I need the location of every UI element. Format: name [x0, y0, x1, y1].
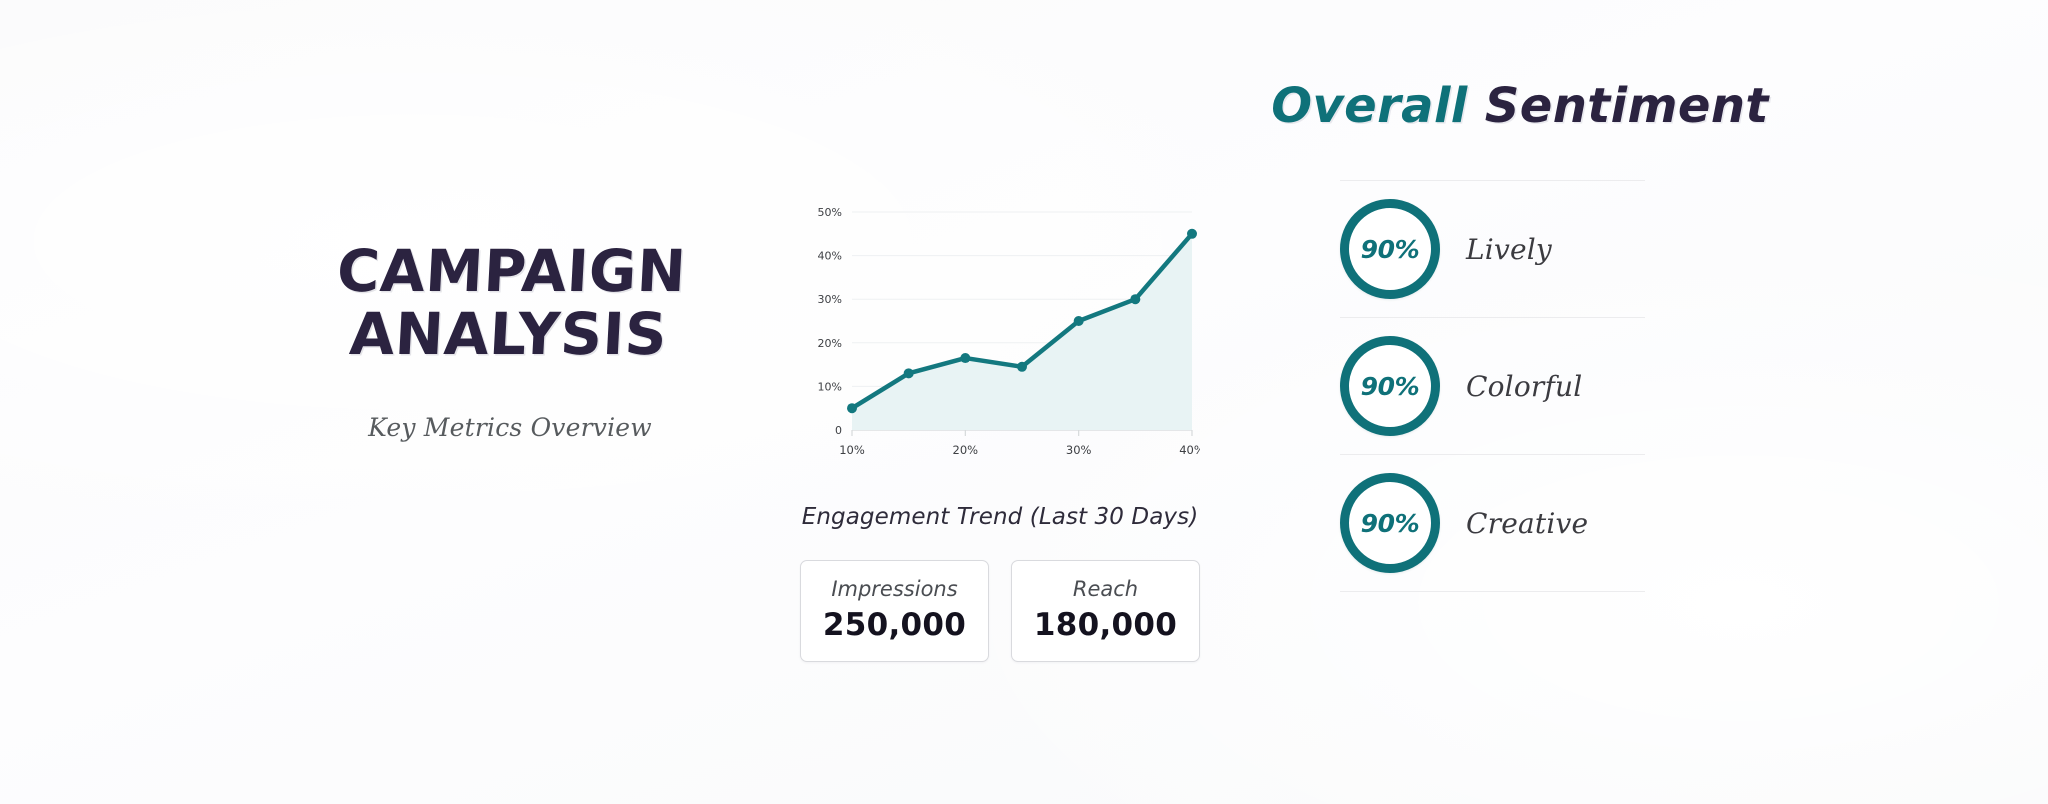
sentiment-percent: 90%: [1361, 235, 1420, 264]
metric-value: 180,000: [1022, 607, 1189, 643]
metric-value: 250,000: [811, 607, 978, 643]
page-subtitle: Key Metrics Overview: [300, 413, 720, 442]
progress-ring-icon: 90%: [1340, 199, 1440, 299]
svg-text:20%: 20%: [818, 337, 842, 350]
svg-text:50%: 50%: [818, 206, 842, 219]
sentiment-percent: 90%: [1361, 509, 1420, 538]
sentiment-item-lively[interactable]: 90% Lively: [1340, 181, 1645, 318]
page-title: CAMPAIGN ANALYSIS: [297, 240, 724, 365]
engagement-chart-block: 010%20%30%40%50% 10%20%30%40% Engagement…: [800, 198, 1220, 662]
engagement-trend-chart: 010%20%30%40%50% 10%20%30%40%: [800, 198, 1200, 478]
sentiment-title: Overall Sentiment: [1225, 78, 1815, 134]
sentiment-title-word-2: Sentiment: [1485, 78, 1769, 134]
overall-sentiment-block: Overall Sentiment 90% Lively 90% Colorfu…: [1225, 78, 1815, 592]
sentiment-item-creative[interactable]: 90% Creative: [1340, 455, 1645, 592]
progress-ring-icon: 90%: [1340, 473, 1440, 573]
metric-label: Reach: [1022, 577, 1189, 601]
metric-label: Impressions: [811, 577, 978, 601]
infographic-canvas: CAMPAIGN ANALYSIS Key Metrics Overview 0…: [0, 0, 2048, 804]
chart-plot-area: 010%20%30%40%50% 10%20%30%40%: [800, 198, 1200, 478]
svg-text:30%: 30%: [818, 293, 842, 306]
metric-card-row: Impressions 250,000 Reach 180,000: [800, 560, 1200, 662]
metric-card-reach[interactable]: Reach 180,000: [1011, 560, 1200, 662]
campaign-title-block: CAMPAIGN ANALYSIS Key Metrics Overview: [300, 240, 720, 442]
metric-card-impressions[interactable]: Impressions 250,000: [800, 560, 989, 662]
sentiment-label: Colorful: [1466, 370, 1582, 403]
svg-text:30%: 30%: [1066, 443, 1092, 457]
chart-area-fill: [852, 234, 1192, 430]
svg-text:40%: 40%: [818, 250, 842, 263]
sentiment-list: 90% Lively 90% Colorful 90% Creative: [1340, 180, 1645, 592]
chart-y-tick-labels: 010%20%30%40%50%: [818, 206, 842, 437]
svg-text:10%: 10%: [839, 443, 865, 457]
sentiment-item-colorful[interactable]: 90% Colorful: [1340, 318, 1645, 455]
chart-axes: [852, 430, 1192, 436]
sentiment-label: Creative: [1466, 507, 1588, 540]
sentiment-label: Lively: [1466, 233, 1552, 266]
chart-caption: Engagement Trend (Last 30 Days): [800, 504, 1200, 530]
svg-text:10%: 10%: [818, 380, 842, 393]
page-title-line-2: ANALYSIS: [297, 303, 720, 366]
sentiment-percent: 90%: [1361, 372, 1420, 401]
progress-ring-icon: 90%: [1340, 336, 1440, 436]
chart-x-tick-labels: 10%20%30%40%: [839, 443, 1200, 457]
svg-text:20%: 20%: [953, 443, 979, 457]
page-title-line-1: CAMPAIGN: [335, 237, 688, 305]
svg-text:40%: 40%: [1179, 443, 1200, 457]
svg-text:0: 0: [835, 424, 842, 437]
sentiment-title-word-1: Overall: [1271, 78, 1467, 134]
